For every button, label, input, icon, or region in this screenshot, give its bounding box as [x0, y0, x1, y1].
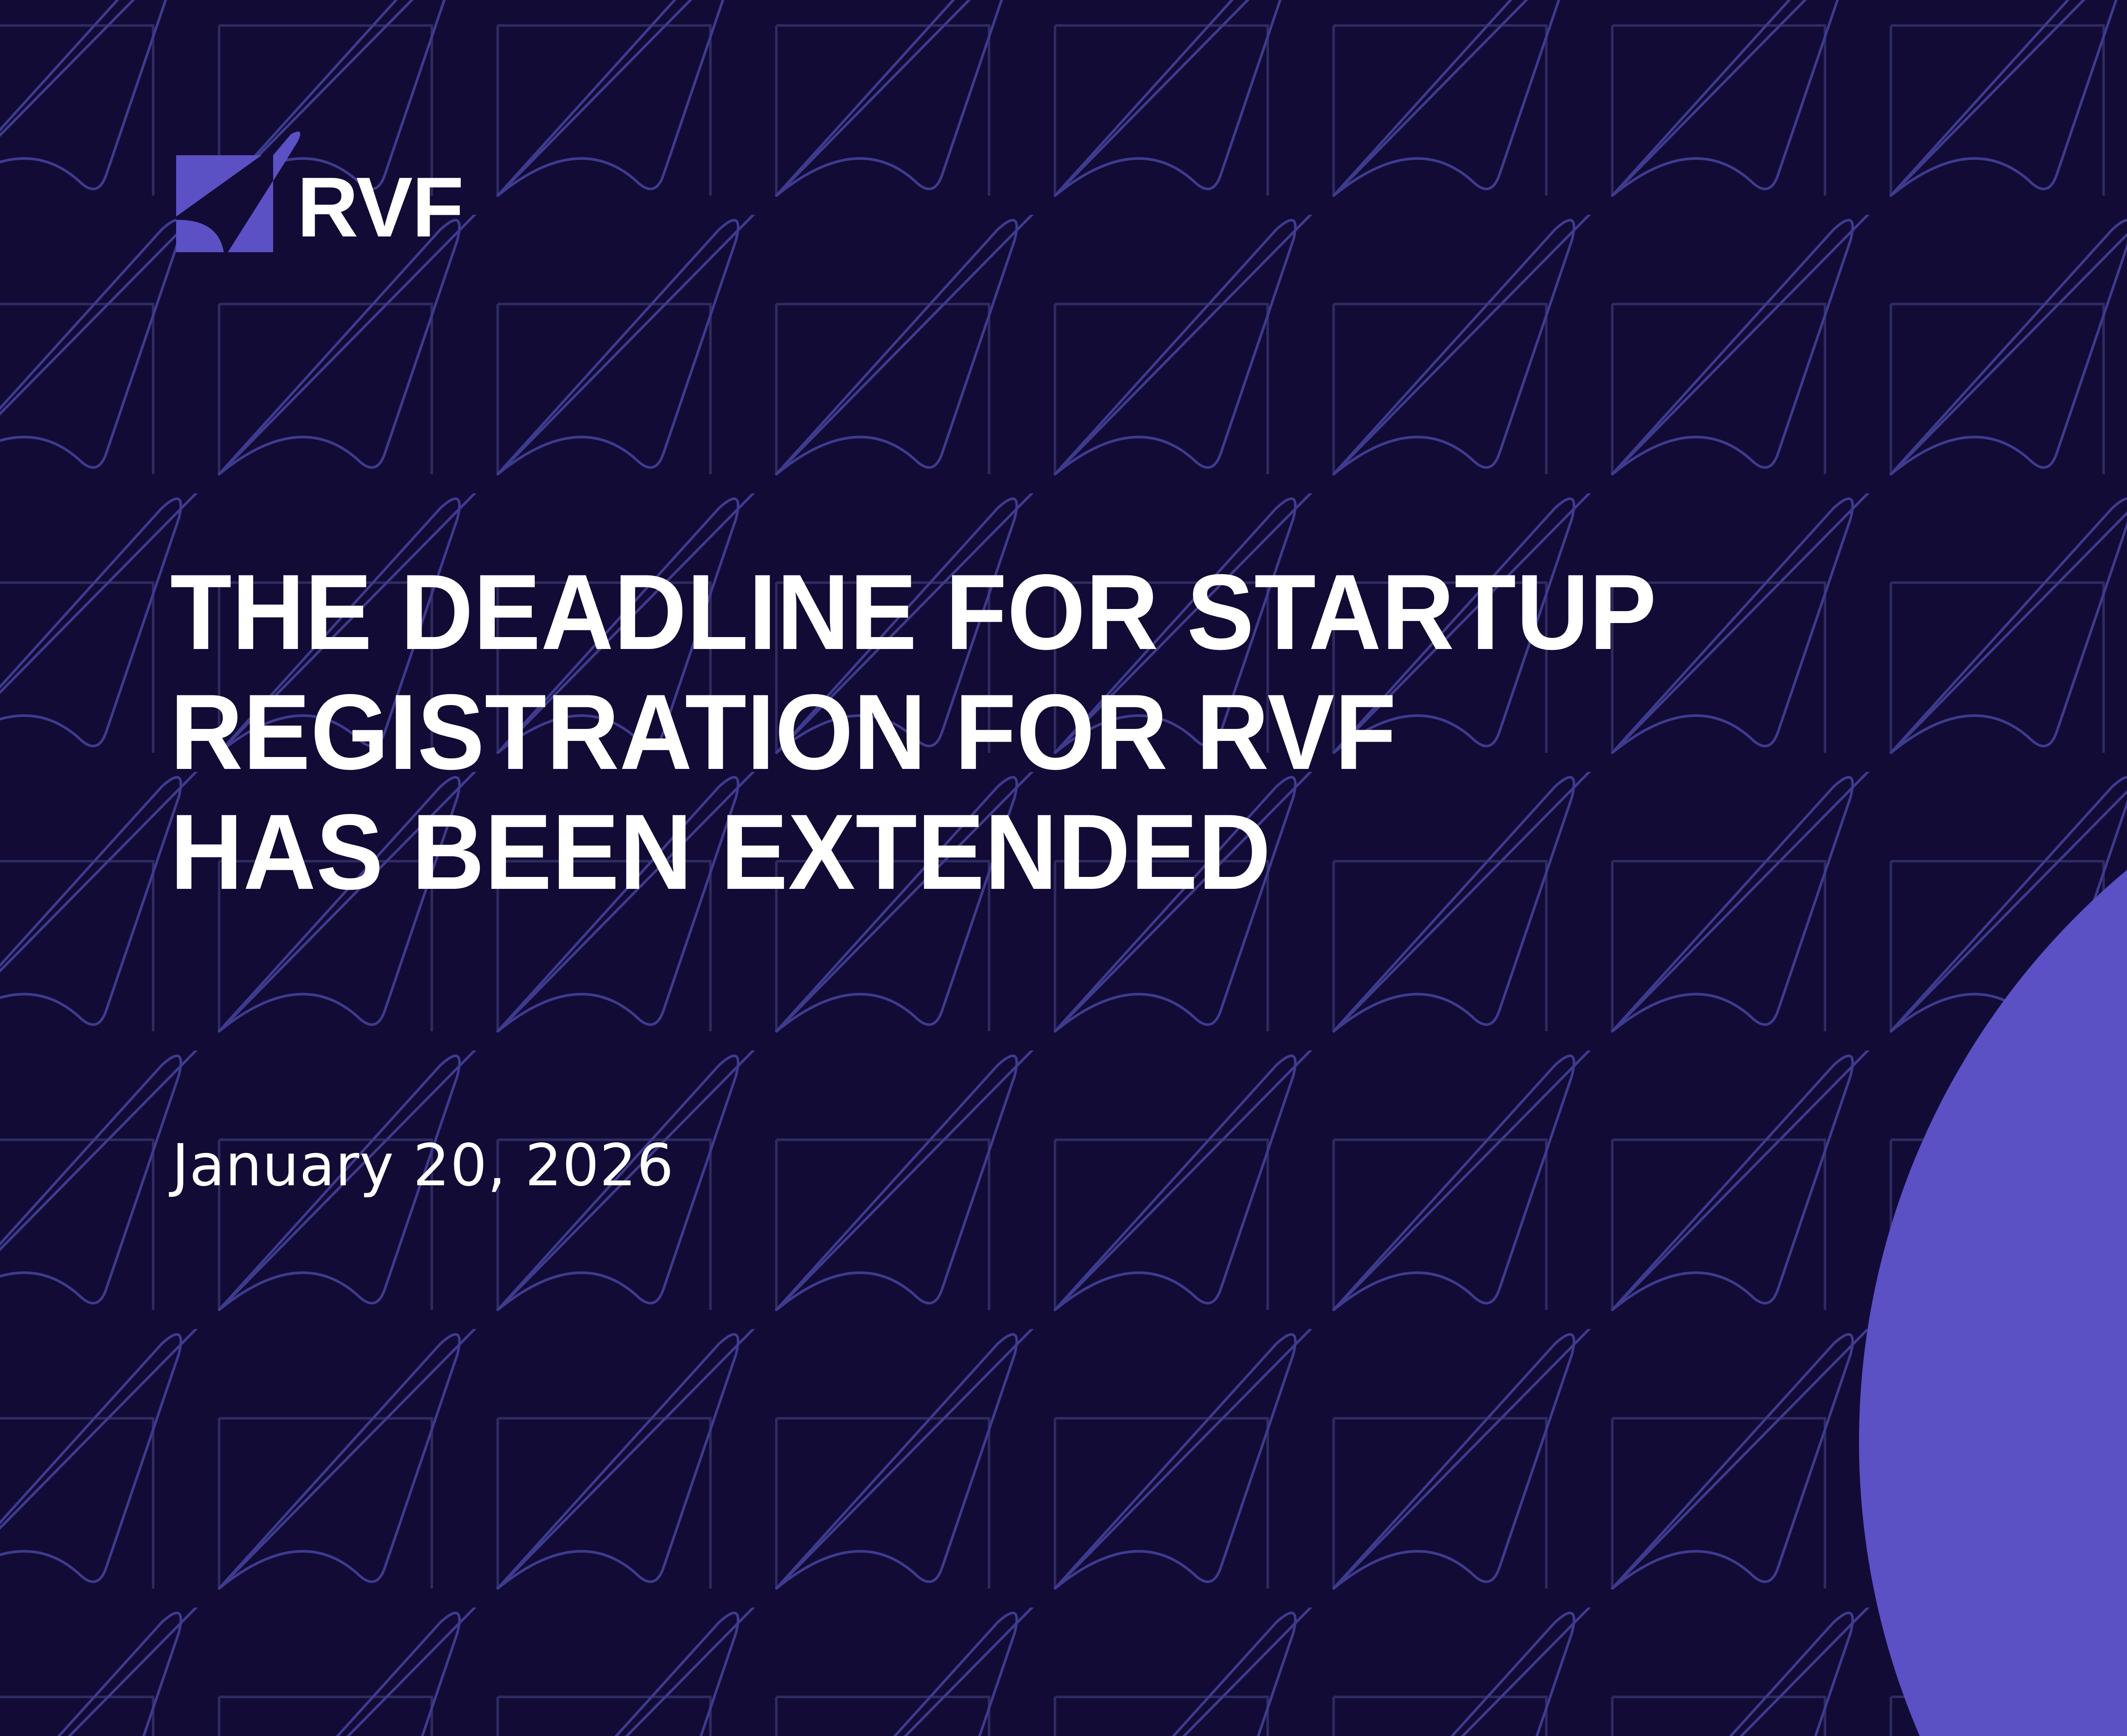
event-date: January 20, 2026 — [172, 1131, 674, 1201]
brand-name: RVF — [297, 165, 463, 250]
headline-line-2: REGISTRATION FOR RVF — [170, 672, 2127, 792]
arrow-square-logo-icon — [176, 155, 273, 252]
brand-logo[interactable]: RVF — [176, 165, 463, 250]
banner-content: RVF THE DEADLINE FOR STARTUP REGISTRATIO… — [0, 0, 2127, 1736]
headline-line-1: THE DEADLINE FOR STARTUP — [170, 552, 2127, 672]
headline-line-3: HAS BEEN EXTENDED — [170, 792, 2127, 912]
page-title: THE DEADLINE FOR STARTUP REGISTRATION FO… — [170, 552, 2127, 913]
banner-canvas: RVF THE DEADLINE FOR STARTUP REGISTRATIO… — [0, 0, 2127, 1736]
